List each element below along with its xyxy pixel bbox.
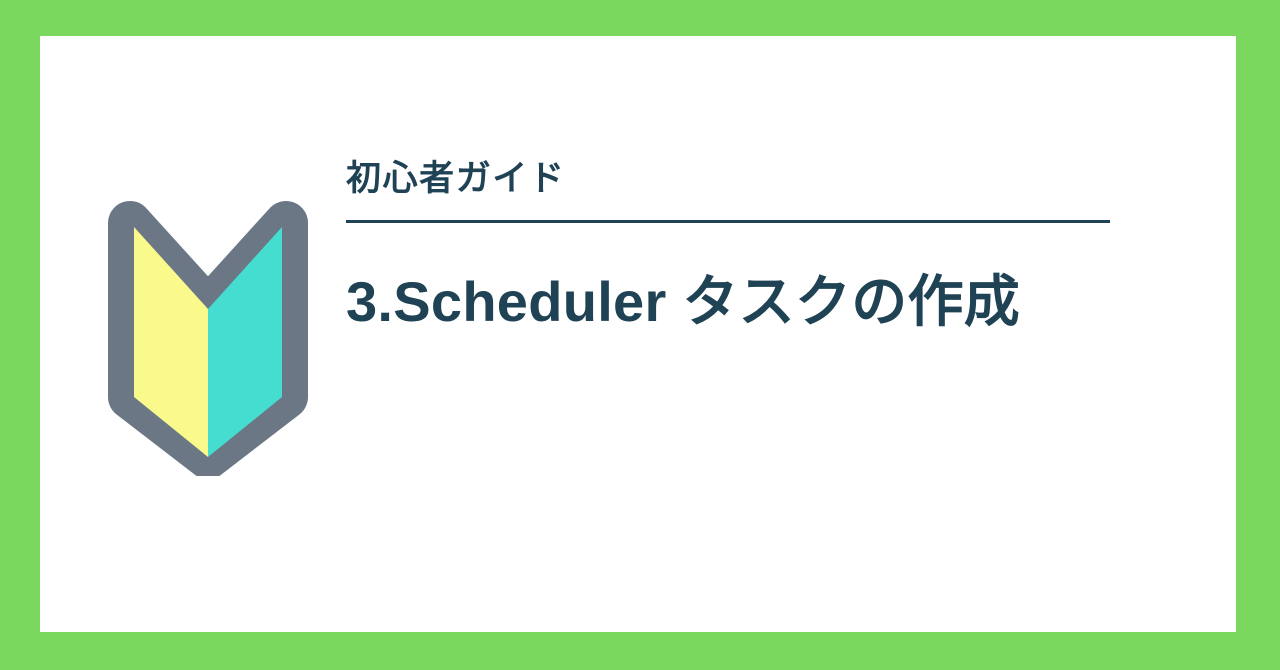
wakaba-mark-logo [108, 201, 308, 476]
title-card: 初心者ガイド 3.Scheduler タスクの作成 [0, 0, 1280, 670]
title-text-block: 初心者ガイド 3.Scheduler タスクの作成 [346, 158, 1116, 374]
eyebrow-label: 初心者ガイド [346, 158, 1116, 199]
title-divider [346, 220, 1110, 223]
card-inner-panel: 初心者ガイド 3.Scheduler タスクの作成 [40, 36, 1236, 632]
page-title: 3.Scheduler タスクの作成 [346, 268, 1116, 336]
wakaba-mark-icon [108, 201, 308, 476]
